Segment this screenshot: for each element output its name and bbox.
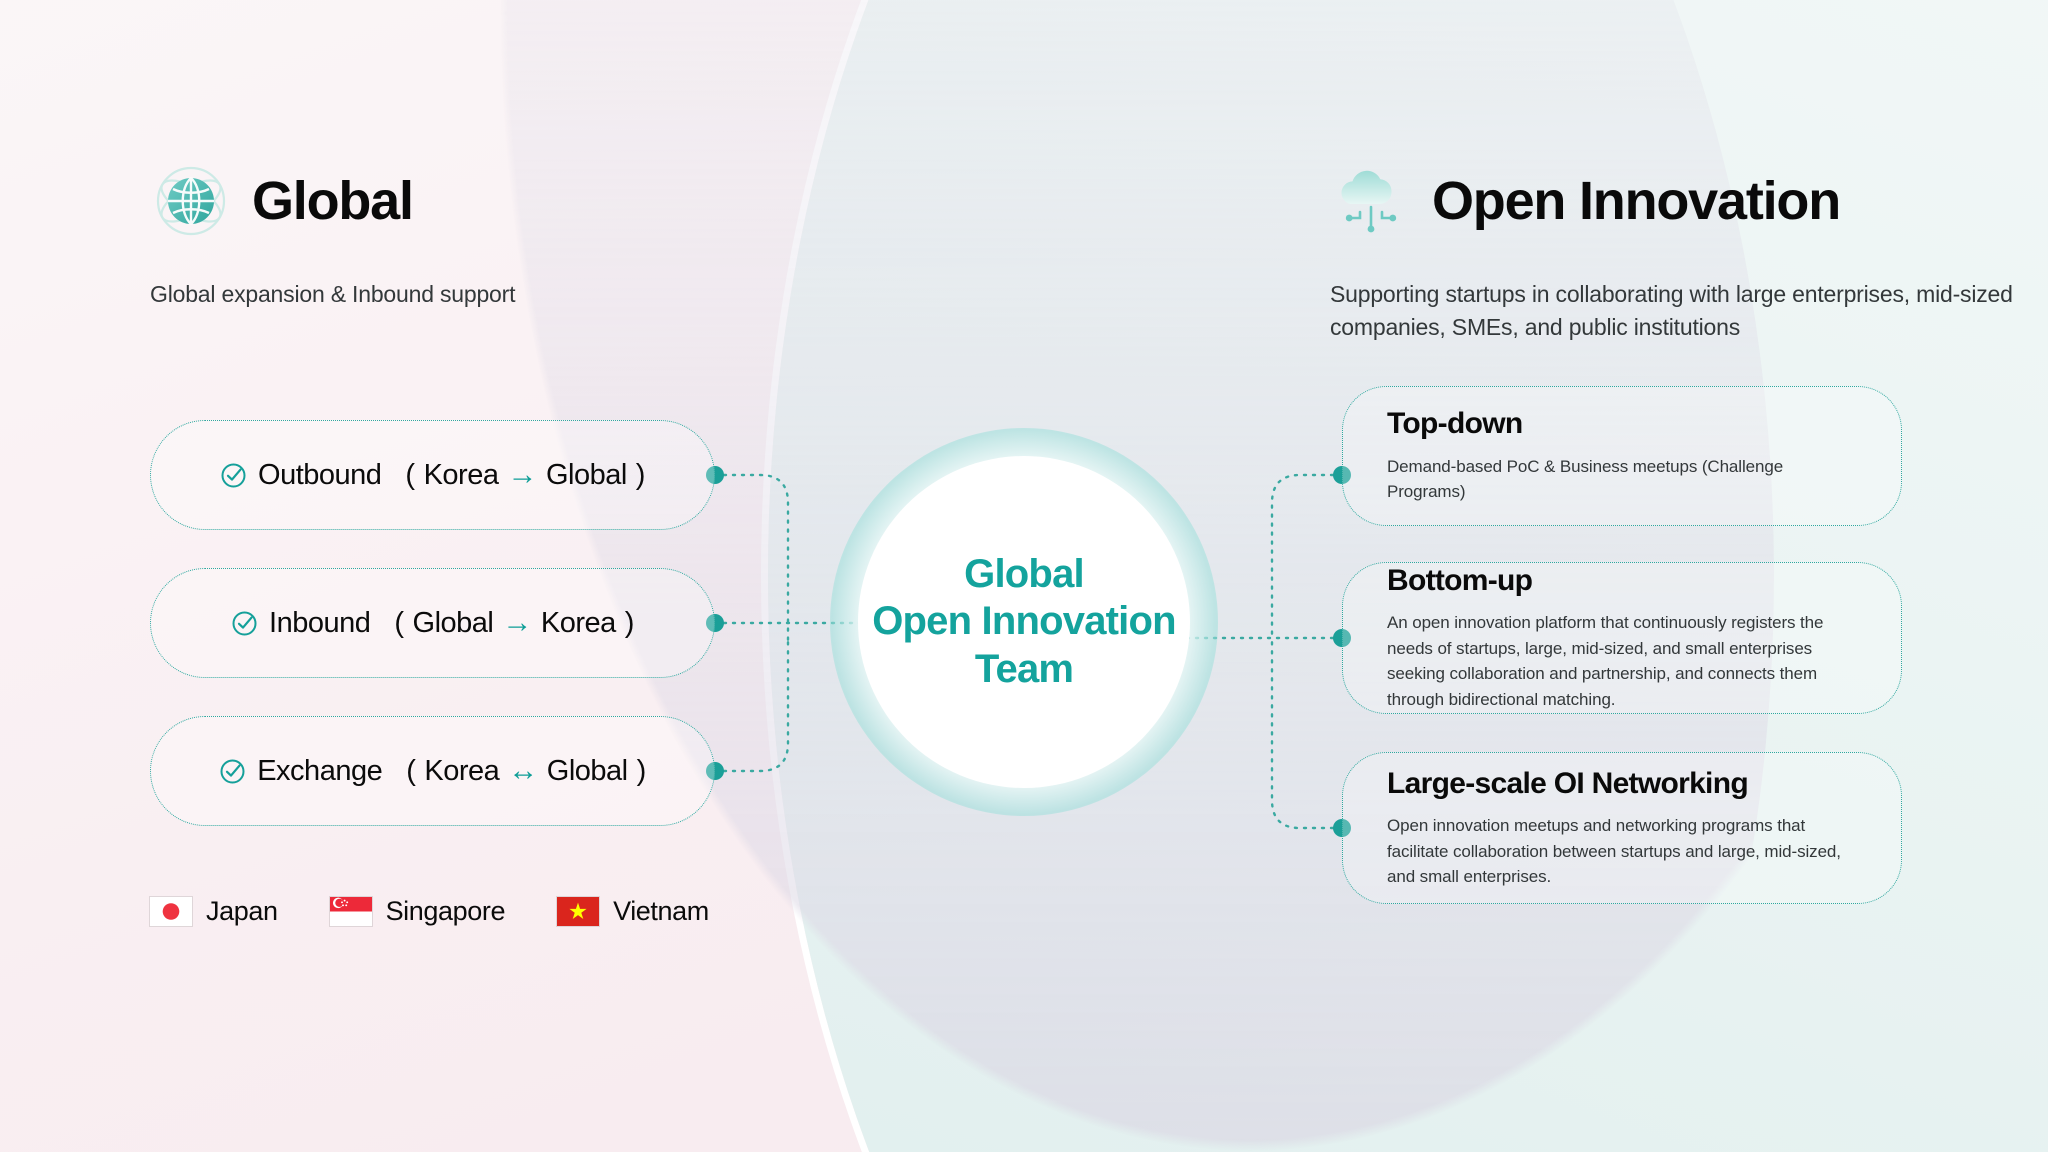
arrow-right-icon: → xyxy=(507,460,537,490)
card-large-scale-oi-networking-title: Large-scale OI Networking xyxy=(1387,767,1861,802)
arrow-left-right-icon: ↔ xyxy=(508,756,538,786)
right-panel-subtitle: Supporting startups in collaborating wit… xyxy=(1330,278,2048,343)
flag-singapore-icon xyxy=(330,897,372,926)
country-item-vietnam: Vietnam xyxy=(557,896,709,927)
check-circle-icon xyxy=(219,758,246,785)
center-title-line1: Global xyxy=(872,551,1176,598)
country-flag-list: Japan Singapore xyxy=(150,896,709,927)
card-top-down-title: Top-down xyxy=(1387,407,1861,442)
card-outbound-from: Korea xyxy=(424,459,499,492)
card-bottom-up[interactable]: Bottom-up An open innovation platform th… xyxy=(1342,562,1902,714)
center-circle[interactable]: Global Open Innovation Team xyxy=(858,456,1190,788)
left-panel-title: Global xyxy=(252,174,413,228)
center-title-line3: Team xyxy=(872,646,1176,693)
country-label-vietnam: Vietnam xyxy=(613,896,709,927)
flag-japan-icon xyxy=(150,897,192,926)
center-title-line2: Open Innovation xyxy=(872,598,1176,645)
card-exchange-detail: (Korea ↔ Global) xyxy=(406,755,646,788)
cloud-network-icon xyxy=(1330,160,1412,242)
right-panel-title: Open Innovation xyxy=(1432,174,1840,228)
card-bottom-up-description: An open innovation platform that continu… xyxy=(1387,610,1861,712)
card-inbound-close: ) xyxy=(625,607,634,640)
card-inbound-from: Global xyxy=(413,607,494,640)
center-title: Global Open Innovation Team xyxy=(872,551,1176,693)
right-panel-header: Open Innovation Supporting startups in c… xyxy=(1330,160,2048,343)
country-item-singapore: Singapore xyxy=(330,896,506,927)
card-bottom-up-title: Bottom-up xyxy=(1387,564,1861,599)
left-panel-subtitle: Global expansion & Inbound support xyxy=(150,278,515,311)
diagram-canvas: Global Global expansion & Inbound suppor… xyxy=(0,0,2048,1152)
left-panel-header: Global Global expansion & Inbound suppor… xyxy=(150,160,515,311)
flag-vietnam-icon xyxy=(557,897,599,926)
card-inbound-from-open: ( xyxy=(394,607,403,640)
country-label-japan: Japan xyxy=(206,896,278,927)
check-circle-icon xyxy=(231,610,258,637)
card-outbound-from-open: ( xyxy=(405,459,414,492)
card-inbound-label: Inbound xyxy=(269,607,370,640)
card-top-down[interactable]: Top-down Demand-based PoC & Business mee… xyxy=(1342,386,1902,526)
country-label-singapore: Singapore xyxy=(386,896,506,927)
check-circle-icon xyxy=(220,462,247,489)
card-large-scale-oi-networking-description: Open innovation meetups and networking p… xyxy=(1387,813,1861,890)
card-outbound-to: Global xyxy=(546,459,627,492)
card-exchange-from-open: ( xyxy=(406,755,415,788)
card-exchange[interactable]: Exchange (Korea ↔ Global) xyxy=(150,716,715,826)
card-outbound[interactable]: Outbound (Korea → Global) xyxy=(150,420,715,530)
card-outbound-label: Outbound xyxy=(258,459,381,492)
card-inbound-to: Korea xyxy=(541,607,616,640)
card-top-down-description: Demand-based PoC & Business meetups (Cha… xyxy=(1387,454,1861,505)
card-exchange-from: Korea xyxy=(424,755,499,788)
card-exchange-label: Exchange xyxy=(257,755,382,788)
card-exchange-close: ) xyxy=(637,755,646,788)
card-outbound-close: ) xyxy=(636,459,645,492)
globe-icon xyxy=(150,160,232,242)
country-item-japan: Japan xyxy=(150,896,278,927)
card-exchange-to: Global xyxy=(547,755,628,788)
card-large-scale-oi-networking[interactable]: Large-scale OI Networking Open innovatio… xyxy=(1342,752,1902,904)
arrow-right-icon: → xyxy=(502,608,532,638)
card-inbound[interactable]: Inbound (Global → Korea) xyxy=(150,568,715,678)
card-outbound-detail: (Korea → Global) xyxy=(405,459,645,492)
card-inbound-detail: (Global → Korea) xyxy=(394,607,634,640)
